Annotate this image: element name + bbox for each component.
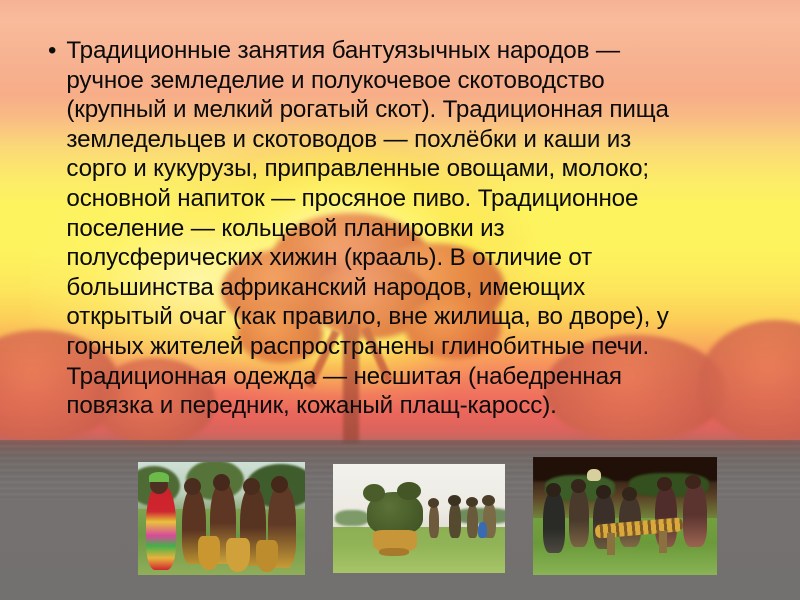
photo-masked-dancer[interactable] xyxy=(333,464,505,573)
bullet-marker: • xyxy=(42,36,56,421)
bullet-paragraph: • Традиционные занятия бантуязычных наро… xyxy=(42,36,742,421)
photo-drummers[interactable] xyxy=(138,462,305,575)
photo-xylophone-players[interactable] xyxy=(533,457,717,575)
slide-canvas: • Традиционные занятия бантуязычных наро… xyxy=(0,0,800,600)
bullet-paragraph-text: Традиционные занятия бантуязычных народо… xyxy=(66,36,742,421)
